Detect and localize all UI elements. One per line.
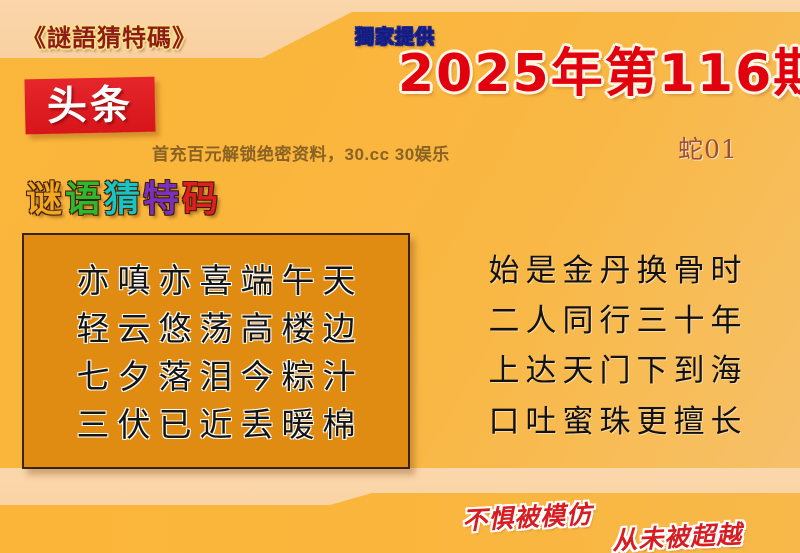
poem-line: 上达天门下到海 (448, 346, 788, 396)
zodiac-code: 蛇01 (678, 130, 738, 166)
series-title: 《謎語猜特碼》 (22, 18, 197, 53)
slogan-not-afraid-of-imitation: 不惧被模仿 (461, 495, 593, 538)
riddle-line: 轻云悠荡高楼边 (24, 305, 408, 353)
poem-block: 始是金丹换骨时二人同行三十年上达天门下到海口吐蜜珠更擅长 (448, 246, 788, 447)
poem-line: 二人同行三十年 (448, 296, 788, 346)
riddle-heading: 谜语猜特码 (26, 182, 221, 218)
issue-title: 2025年第116期 (398, 48, 800, 100)
poem-line: 始是金丹换骨时 (448, 246, 788, 296)
promo-line: 首充百元解锁绝密资料，30.cc 30娱乐 (152, 140, 450, 165)
riddle-heading-char: 码 (182, 182, 221, 218)
riddle-heading-char: 特 (143, 182, 182, 218)
headline-badge-label: 头条 (47, 85, 134, 127)
lottery-poster: 《謎語猜特碼》 头条 首充百元解锁绝密资料，30.cc 30娱乐 獨家提供 20… (0, 0, 800, 553)
riddle-line: 三伏已近丢暖棉 (24, 401, 408, 449)
headline-badge: 头条 (24, 77, 155, 135)
riddle-heading-char: 谜 (26, 182, 65, 218)
riddle-heading-char: 语 (65, 182, 104, 218)
riddle-line: 亦嗔亦喜端午天 (24, 257, 408, 305)
poem-line: 口吐蜜珠更擅长 (448, 397, 788, 447)
riddle-line: 七夕落泪今粽汁 (24, 353, 408, 401)
riddle-box: 亦嗔亦喜端午天轻云悠荡高楼边七夕落泪今粽汁三伏已近丢暖棉 (22, 233, 410, 469)
slogan-never-surpassed: 从未被超越 (611, 515, 743, 553)
riddle-heading-char: 猜 (104, 182, 143, 218)
